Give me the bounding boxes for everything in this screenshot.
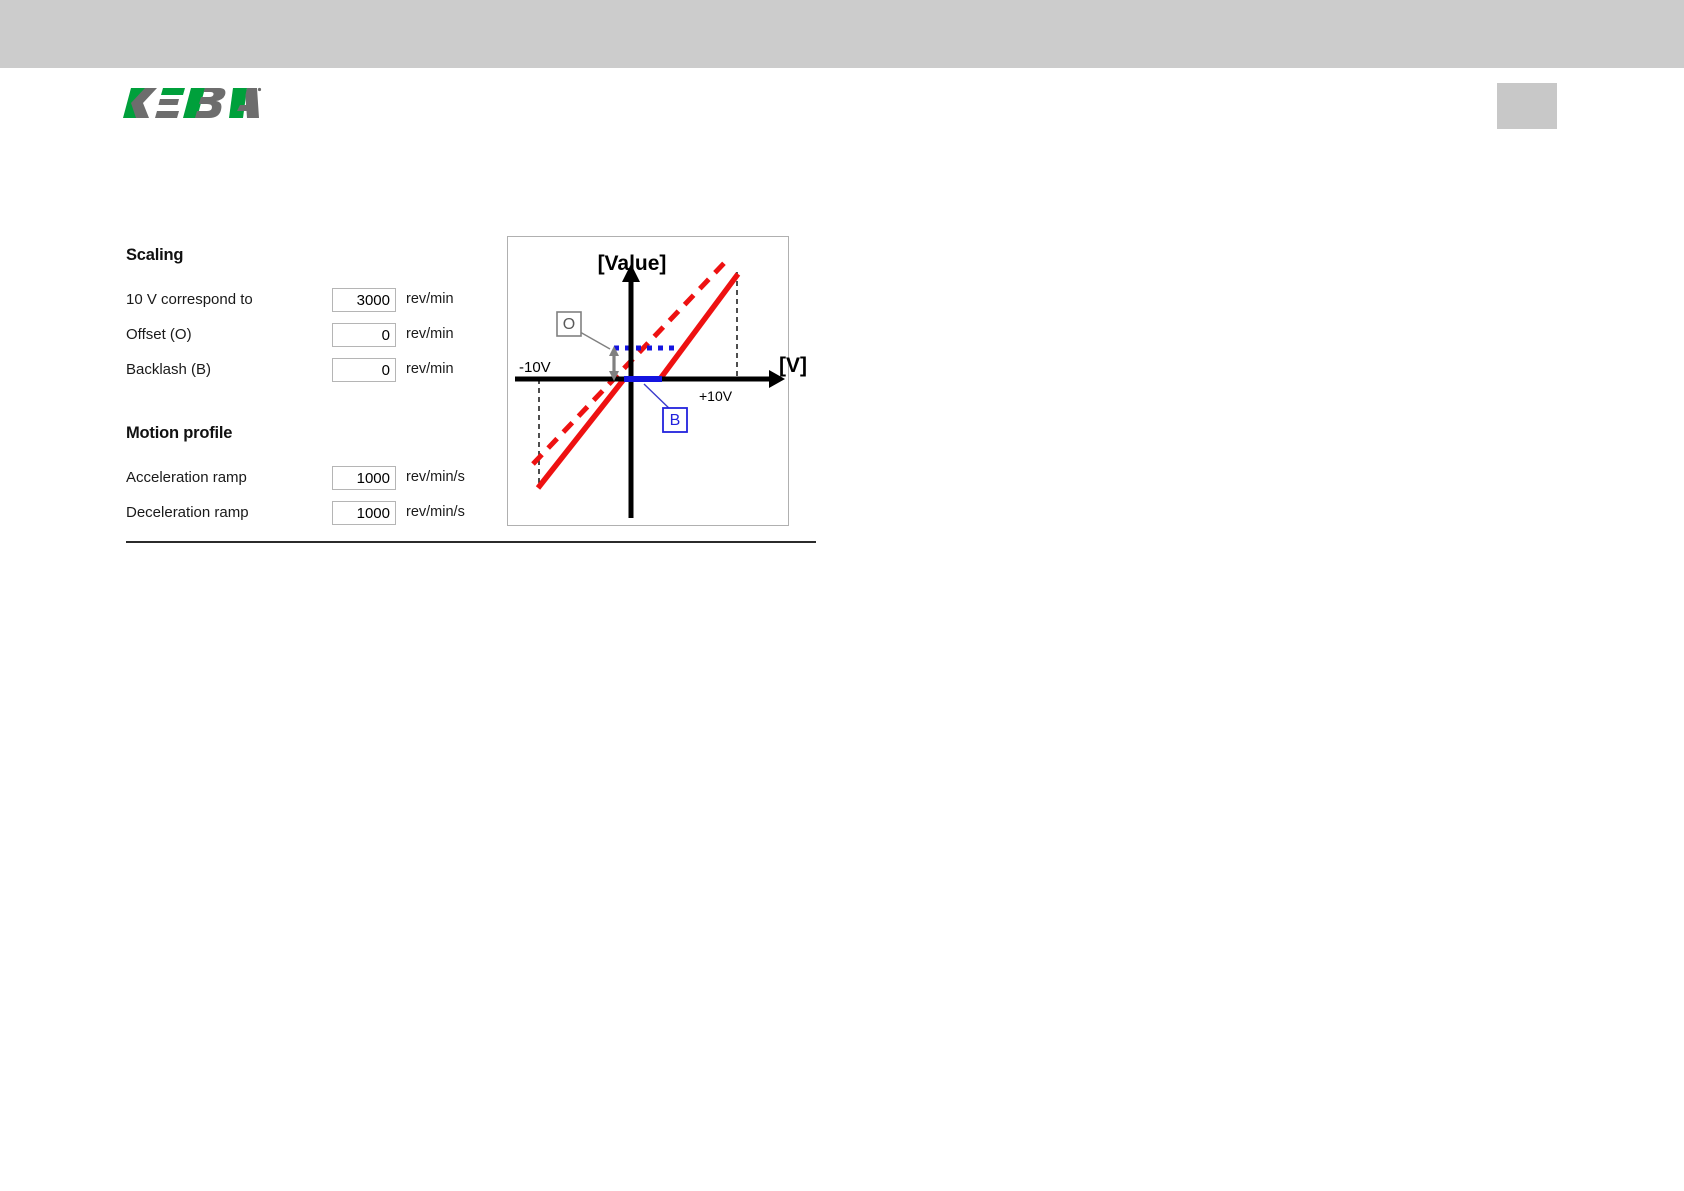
input-backlash[interactable]: 0: [332, 358, 396, 382]
section-divider: [126, 541, 816, 543]
value-acceleration-ramp: 1000: [357, 470, 390, 487]
label-deceleration-ramp: Deceleration ramp: [126, 504, 249, 521]
page-header: [0, 68, 1684, 158]
header-placeholder-box[interactable]: [1497, 83, 1557, 129]
value-deceleration-ramp: 1000: [357, 505, 390, 522]
unit-acceleration-ramp: rev/min/s: [406, 469, 465, 485]
group-title-scaling: Scaling: [126, 246, 183, 265]
row-acceleration-ramp: Acceleration ramp 1000 rev/min/s: [126, 466, 546, 492]
input-deceleration-ramp[interactable]: 1000: [332, 501, 396, 525]
row-backlash: Backlash (B) 0 rev/min: [126, 358, 546, 384]
transfer-characteristic-diagram: O B [Value] -10V +10V [V] [V]: [507, 236, 789, 526]
x-min-label: -10V: [519, 359, 551, 376]
curve-actual-right: [660, 274, 738, 379]
diagram-svg: O B [Value] -10V +10V [V]: [507, 236, 789, 526]
x-axis-unit-label: [V]: [779, 354, 807, 378]
input-acceleration-ramp[interactable]: 1000: [332, 466, 396, 490]
offset-callout-leader: [580, 332, 610, 349]
diagram-title: [Value]: [598, 252, 667, 275]
row-offset: Offset (O) 0 rev/min: [126, 323, 546, 349]
backlash-callout-label: B: [670, 412, 681, 429]
group-title-motion-profile: Motion profile: [126, 424, 232, 443]
label-10v-correspond-to: 10 V correspond to: [126, 291, 253, 308]
value-10v-correspond-to: 3000: [357, 292, 390, 309]
unit-backlash: rev/min: [406, 361, 454, 377]
value-backlash: 0: [382, 362, 390, 379]
label-offset: Offset (O): [126, 326, 192, 343]
label-backlash: Backlash (B): [126, 361, 211, 378]
label-acceleration-ramp: Acceleration ramp: [126, 469, 247, 486]
input-10v-correspond-to[interactable]: 3000: [332, 288, 396, 312]
row-10v-correspond-to: 10 V correspond to 3000 rev/min: [126, 288, 546, 314]
top-gray-strip: [0, 0, 1684, 68]
unit-offset: rev/min: [406, 326, 454, 342]
keba-logo: [123, 86, 263, 120]
offset-callout-label: O: [563, 316, 575, 333]
row-deceleration-ramp: Deceleration ramp 1000 rev/min/s: [126, 501, 546, 527]
unit-deceleration-ramp: rev/min/s: [406, 504, 465, 520]
value-offset: 0: [382, 327, 390, 344]
unit-10v-correspond-to: rev/min: [406, 291, 454, 307]
curve-actual-left: [538, 379, 624, 488]
input-offset[interactable]: 0: [332, 323, 396, 347]
x-max-label: +10V: [699, 388, 733, 404]
